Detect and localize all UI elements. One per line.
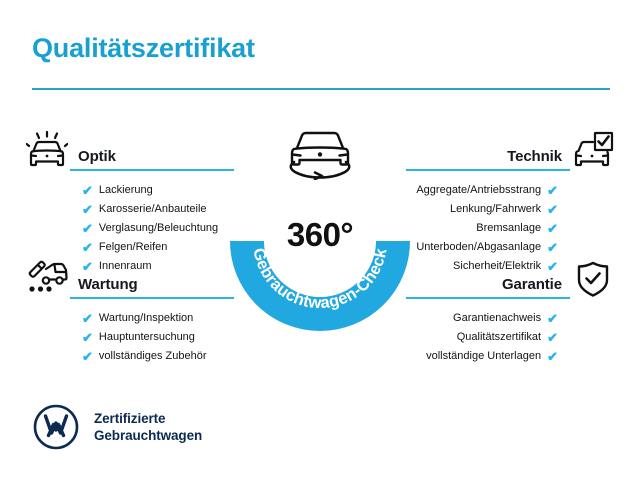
list-item: ✔Karosserie/Anbauteile [82, 201, 234, 218]
section-title-garantie: Garantie [406, 276, 570, 297]
check-icon: ✔ [82, 312, 93, 325]
list-item: Lenkung/Fahrwerk✔ [406, 201, 558, 218]
section-underline [406, 297, 570, 299]
section-title-optik: Optik [70, 148, 234, 169]
list-item: ✔vollständiges Zubehör [82, 348, 234, 365]
section-technik: Technik Aggregate/Antriebsstrang✔ Lenkun… [406, 128, 616, 277]
check-icon: ✔ [547, 241, 558, 254]
footer-line-1: Zertifizierte [94, 410, 202, 427]
list-item-label: Bremsanlage [476, 220, 541, 237]
list-item: vollständige Unterlagen✔ [406, 348, 558, 365]
check-icon: ✔ [547, 184, 558, 197]
list-item: Garantienachweis✔ [406, 310, 558, 327]
footer-line-2: Gebrauchtwagen [94, 427, 202, 444]
list-item-label: Karosserie/Anbauteile [99, 201, 207, 218]
list-item-label: Felgen/Reifen [99, 239, 168, 256]
section-underline [70, 169, 234, 171]
list-item: Aggregate/Antriebsstrang✔ [406, 182, 558, 199]
check-icon: ✔ [82, 203, 93, 216]
list-item-label: vollständige Unterlagen [426, 348, 541, 365]
check-icon: ✔ [82, 184, 93, 197]
list-item: Unterboden/Abgasanlage✔ [406, 239, 558, 256]
check-icon: ✔ [82, 350, 93, 363]
checklist-garantie: Garantienachweis✔ Qualitätszertifikat✔ v… [406, 310, 616, 365]
list-item-label: Garantienachweis [453, 310, 541, 327]
badge-value: 360° [229, 216, 411, 254]
list-item-label: Lackierung [99, 182, 153, 199]
section-underline [406, 169, 570, 171]
vw-logo [32, 403, 80, 451]
title-divider [32, 88, 610, 90]
list-item-label: Lenkung/Fahrwerk [450, 201, 541, 218]
check-icon: ✔ [82, 222, 93, 235]
list-item: ✔Verglasung/Beleuchtung [82, 220, 234, 237]
certificate-page: Qualitätszertifikat Optik [0, 0, 640, 480]
section-underline [70, 297, 234, 299]
list-item-label: Unterboden/Abgasanlage [416, 239, 541, 256]
section-wartung: Wartung ✔Wartung/Inspektion ✔Hauptunters… [24, 256, 234, 367]
footer-text: Zertifizierte Gebrauchtwagen [94, 410, 202, 444]
section-title-wartung: Wartung [70, 276, 234, 297]
page-title: Qualitätszertifikat [32, 33, 255, 64]
check-icon: ✔ [547, 222, 558, 235]
shield-check-icon [570, 258, 616, 300]
list-item: ✔Wartung/Inspektion [82, 310, 234, 327]
check-icon: ✔ [547, 350, 558, 363]
list-item: ✔Felgen/Reifen [82, 239, 234, 256]
list-item: Bremsanlage✔ [406, 220, 558, 237]
car-shine-icon [24, 130, 70, 172]
check-icon: ✔ [547, 331, 558, 344]
check-icon: ✔ [82, 241, 93, 254]
section-optik: Optik ✔Lackierung ✔Karosserie/Anbauteile… [24, 128, 234, 277]
list-item-label: Hauptuntersuchung [99, 329, 195, 346]
car-checkbox-icon [570, 130, 616, 172]
list-item: ✔Lackierung [82, 182, 234, 199]
car-wrench-icon [24, 258, 70, 300]
section-title-technik: Technik [406, 148, 570, 169]
footer-brand: Zertifizierte Gebrauchtwagen [32, 403, 202, 451]
check-icon: ✔ [82, 331, 93, 344]
list-item-label: vollständiges Zubehör [99, 348, 207, 365]
list-item-label: Qualitätszertifikat [457, 329, 541, 346]
car-rotate-icon [279, 124, 361, 180]
section-garantie: Garantie Garantienachweis✔ Qualitätszert… [406, 256, 616, 367]
list-item: ✔Hauptuntersuchung [82, 329, 234, 346]
list-item-label: Wartung/Inspektion [99, 310, 193, 327]
list-item-label: Aggregate/Antriebsstrang [416, 182, 541, 199]
list-item-label: Verglasung/Beleuchtung [99, 220, 218, 237]
check-icon: ✔ [547, 312, 558, 325]
check-icon: ✔ [547, 203, 558, 216]
badge-360-gebrauchtwagen-check: Gebrauchtwagen-Check 360° [229, 150, 411, 332]
list-item: Qualitätszertifikat✔ [406, 329, 558, 346]
checklist-wartung: ✔Wartung/Inspektion ✔Hauptuntersuchung ✔… [24, 310, 234, 365]
